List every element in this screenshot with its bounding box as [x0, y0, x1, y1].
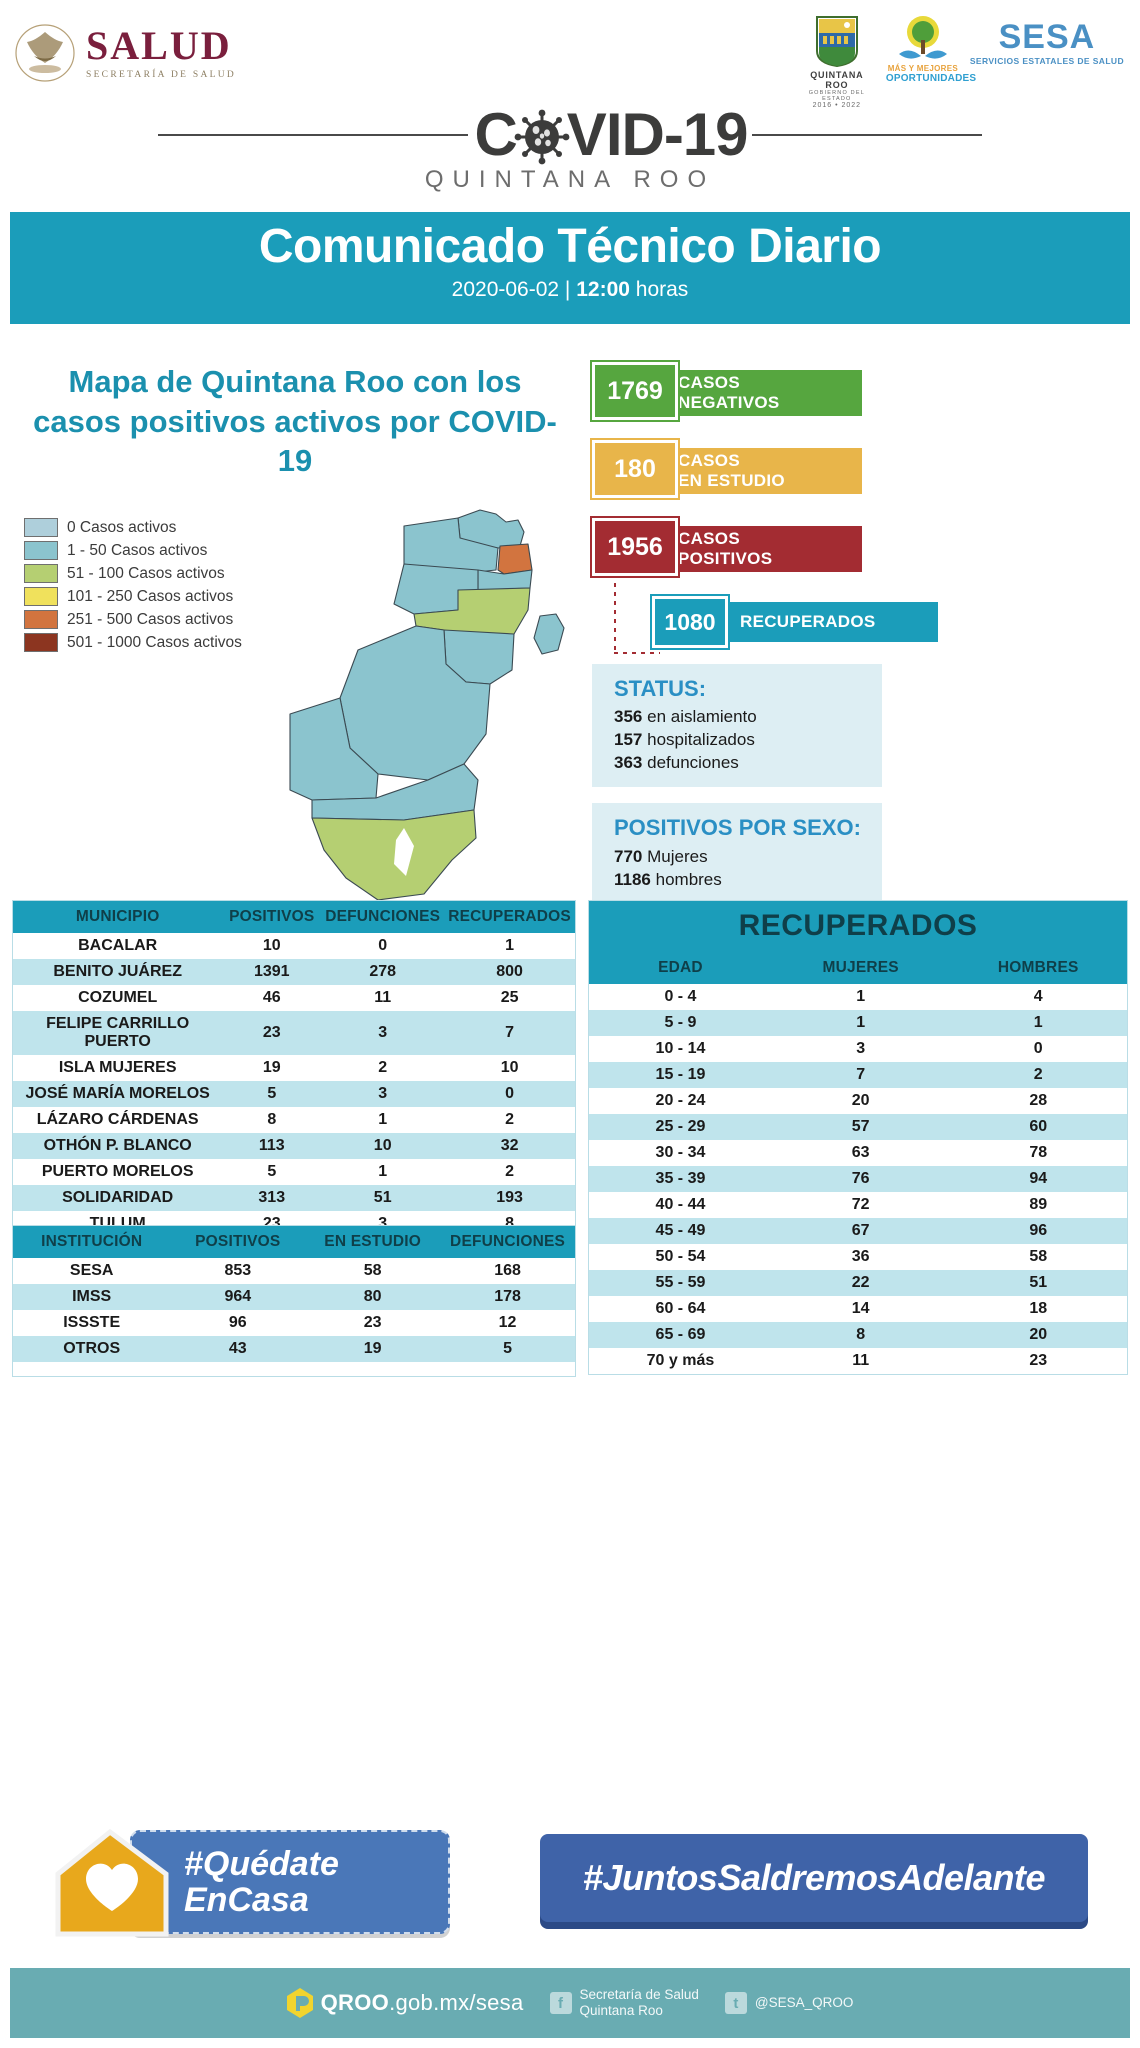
stat-value-positivos: 1956 [592, 518, 678, 576]
cell-edad: 25 - 29 [589, 1114, 772, 1140]
sexo-row: 770 Mujeres [614, 847, 866, 867]
rule-left [158, 134, 468, 136]
map-svg [228, 498, 588, 908]
cell-hombres: 51 [949, 1270, 1127, 1296]
cell-hombres: 89 [949, 1192, 1127, 1218]
cell-municipio: SOLIDARIDAD [13, 1185, 222, 1211]
table-row: LÁZARO CÁRDENAS812 [13, 1107, 575, 1133]
cell-recuperados: 7 [444, 1011, 575, 1055]
cell-positivos: 5 [222, 1159, 321, 1185]
cell-en-estudio: 19 [305, 1336, 440, 1362]
cell-positivos: 853 [170, 1258, 305, 1284]
cell-edad: 45 - 49 [589, 1218, 772, 1244]
table-row: 60 - 641418 [589, 1296, 1127, 1322]
connector-horizontal [614, 652, 660, 654]
legend-swatch [24, 587, 58, 606]
cell-recuperados: 32 [444, 1133, 575, 1159]
cell-municipio: BENITO JUÁREZ [13, 959, 222, 985]
table-row: OTHÓN P. BLANCO1131032 [13, 1133, 575, 1159]
cell-hombres: 28 [949, 1088, 1127, 1114]
cell-hombres: 18 [949, 1296, 1127, 1322]
legend-swatch [24, 564, 58, 583]
cell-municipio: OTHÓN P. BLANCO [13, 1133, 222, 1159]
status-label: en aislamiento [647, 707, 757, 726]
footer-site-path: .gob.mx/sesa [389, 1990, 523, 2015]
stat-line-1: CASOS [678, 529, 862, 549]
banner-time-suffix: horas [630, 278, 688, 301]
legend-label: 0 Casos activos [67, 519, 176, 537]
cell-edad: 55 - 59 [589, 1270, 772, 1296]
stat-value-negativos: 1769 [592, 362, 678, 420]
salud-wordmark: SALUD [86, 26, 236, 66]
footer-bar: QROO.gob.mx/sesa f Secretaría de Salud Q… [10, 1968, 1130, 2038]
cell-hombres: 94 [949, 1166, 1127, 1192]
table-row: SOLIDARIDAD31351193 [13, 1185, 575, 1211]
cell-positivos: 46 [222, 985, 321, 1011]
recuperados-table: EDAD MUJERES HOMBRES 0 - 414 5 - 911 10 … [589, 952, 1127, 1374]
cell-defunciones: 11 [321, 985, 444, 1011]
sexo-label: Mujeres [647, 847, 707, 866]
th-en-estudio: EN ESTUDIO [305, 1226, 440, 1258]
cell-defunciones: 278 [321, 959, 444, 985]
qroo-caption: QUINTANA ROO [798, 70, 876, 90]
status-row: 157 hospitalizados [614, 730, 866, 750]
legend-label: 1 - 50 Casos activos [67, 542, 207, 560]
salud-logo: SALUD SECRETARÍA DE SALUD [14, 22, 236, 84]
sesa-logo: SESA SERVICIOS ESTATALES DE SALUD [970, 14, 1124, 66]
table-row: COZUMEL461125 [13, 985, 575, 1011]
cell-recuperados: 193 [444, 1185, 575, 1211]
cell-mujeres: 1 [772, 1010, 950, 1036]
stat-line-2: NEGATIVOS [678, 393, 862, 413]
cell-hombres: 60 [949, 1114, 1127, 1140]
cell-recuperados: 1 [444, 933, 575, 959]
cell-defunciones: 0 [321, 933, 444, 959]
cell-mujeres: 72 [772, 1192, 950, 1218]
cell-mujeres: 7 [772, 1062, 950, 1088]
sesa-subtitle: SERVICIOS ESTATALES DE SALUD [970, 56, 1124, 66]
table-row: 15 - 1972 [589, 1062, 1127, 1088]
status-value: 356 [614, 707, 642, 726]
mexican-eagle-icon [14, 22, 76, 84]
cell-mujeres: 14 [772, 1296, 950, 1322]
quintana-roo-shield-logo: QUINTANA ROO GOBIERNO DEL ESTADO 2016 • … [798, 14, 876, 109]
map-region-othon-p-blanco [312, 810, 476, 900]
th-mujeres: MUJERES [772, 952, 950, 984]
cell-mujeres: 8 [772, 1322, 950, 1348]
sexo-value: 770 [614, 847, 642, 866]
sexo-label: hombres [656, 870, 722, 889]
cell-edad: 70 y más [589, 1348, 772, 1374]
covid-wordmark: C [0, 100, 1140, 200]
table-row: 20 - 242028 [589, 1088, 1127, 1114]
cell-en-estudio: 23 [305, 1310, 440, 1336]
table-row: 5 - 911 [589, 1010, 1127, 1036]
cell-positivos: 96 [170, 1310, 305, 1336]
cell-mujeres: 20 [772, 1088, 950, 1114]
cell-defunciones: 1 [321, 1107, 444, 1133]
cell-edad: 35 - 39 [589, 1166, 772, 1192]
cell-hombres: 96 [949, 1218, 1127, 1244]
table-row: 35 - 397694 [589, 1166, 1127, 1192]
table-row: 40 - 447289 [589, 1192, 1127, 1218]
footer-fb-line-1: Secretaría de Salud [580, 1987, 699, 2002]
status-value: 157 [614, 730, 642, 749]
legend-label: 101 - 250 Casos activos [67, 588, 233, 606]
footer-twitter[interactable]: t @SESA_QROO [725, 1992, 853, 2014]
table-header-row: MUNICIPIO POSITIVOS DEFUNCIONES RECUPERA… [13, 901, 575, 933]
table-row: ISLA MUJERES19210 [13, 1055, 575, 1081]
cell-institucion: IMSS [13, 1284, 170, 1310]
cell-mujeres: 3 [772, 1036, 950, 1062]
cell-edad: 40 - 44 [589, 1192, 772, 1218]
banner-time: 12:00 [576, 278, 630, 301]
cell-positivos: 8 [222, 1107, 321, 1133]
cell-recuperados: 800 [444, 959, 575, 985]
table-row: SESA85358168 [13, 1258, 575, 1284]
th-recuperados: RECUPERADOS [444, 901, 575, 933]
cell-recuperados: 10 [444, 1055, 575, 1081]
cell-mujeres: 22 [772, 1270, 950, 1296]
legend-swatch [24, 518, 58, 537]
cell-hombres: 4 [949, 984, 1127, 1010]
stat-value-en-estudio: 180 [592, 440, 678, 498]
cell-en-estudio: 58 [305, 1258, 440, 1284]
table-padding [13, 1362, 575, 1376]
recuperados-table-title: RECUPERADOS [589, 901, 1127, 952]
table-row: IMSS96480178 [13, 1284, 575, 1310]
th-municipio: MUNICIPIO [13, 901, 222, 933]
cell-institucion: OTROS [13, 1336, 170, 1362]
title-banner: Comunicado Técnico Diario 2020-06-02 | 1… [10, 212, 1130, 324]
stat-card-casos-en-estudio: CASOS EN ESTUDIO 180 [592, 440, 1132, 498]
cell-edad: 60 - 64 [589, 1296, 772, 1322]
cell-institucion: ISSSTE [13, 1310, 170, 1336]
th-positivos: POSITIVOS [222, 901, 321, 933]
map-region-cozumel [534, 614, 564, 654]
cell-en-estudio: 80 [305, 1284, 440, 1310]
positivos-por-sexo-box: POSITIVOS POR SEXO: 770 Mujeres 1186 hom… [592, 803, 882, 903]
cell-municipio: LÁZARO CÁRDENAS [13, 1107, 222, 1133]
sexo-row: 1186 hombres [614, 870, 866, 890]
stat-card-casos-positivos: CASOS POSITIVOS 1956 [592, 518, 1132, 576]
sexo-value: 1186 [614, 870, 651, 889]
municipio-table: MUNICIPIO POSITIVOS DEFUNCIONES RECUPERA… [13, 901, 575, 1237]
cell-defunciones: 3 [321, 1011, 444, 1055]
covid-letter-c: C [474, 105, 516, 165]
banner-title: Comunicado Técnico Diario [10, 212, 1130, 272]
table-row: 25 - 295760 [589, 1114, 1127, 1140]
cell-hombres: 1 [949, 1010, 1127, 1036]
cell-positivos: 313 [222, 1185, 321, 1211]
table-row: BENITO JUÁREZ1391278800 [13, 959, 575, 985]
cell-municipio: BACALAR [13, 933, 222, 959]
status-label: hospitalizados [647, 730, 755, 749]
footer-facebook-text: Secretaría de Salud Quintana Roo [580, 1987, 699, 2018]
table-row: FELIPE CARRILLO PUERTO2337 [13, 1011, 575, 1055]
footer-site-text: QROO.gob.mx/sesa [321, 1990, 524, 2016]
rule-right [752, 134, 982, 136]
cell-hombres: 58 [949, 1244, 1127, 1270]
table-row: 45 - 496796 [589, 1218, 1127, 1244]
cell-municipio: JOSÉ MARÍA MORELOS [13, 1081, 222, 1107]
table-row: JOSÉ MARÍA MORELOS530 [13, 1081, 575, 1107]
status-label: defunciones [647, 753, 739, 772]
th-defunciones: DEFUNCIONES [440, 1226, 575, 1258]
twitter-icon: t [725, 1992, 747, 2014]
quintana-roo-choropleth-map [228, 498, 588, 908]
banner-separator: | [559, 278, 576, 301]
cell-mujeres: 36 [772, 1244, 950, 1270]
covid-state-label: QUINTANA ROO [0, 166, 1140, 194]
table-header-row: INSTITUCIÓN POSITIVOS EN ESTUDIO DEFUNCI… [13, 1226, 575, 1258]
cell-positivos: 43 [170, 1336, 305, 1362]
cell-edad: 20 - 24 [589, 1088, 772, 1114]
shield-icon [814, 14, 860, 68]
footer-facebook[interactable]: f Secretaría de Salud Quintana Roo [550, 1987, 699, 2018]
table-row: 30 - 346378 [589, 1140, 1127, 1166]
institucion-table-wrapper: INSTITUCIÓN POSITIVOS EN ESTUDIO DEFUNCI… [12, 1225, 576, 1377]
infographic-page: SALUD SECRETARÍA DE SALUD [0, 0, 1140, 2048]
sexo-title: POSITIVOS POR SEXO: [614, 815, 866, 840]
cell-defunciones: 5 [440, 1336, 575, 1362]
th-edad: EDAD [589, 952, 772, 984]
cell-defunciones: 2 [321, 1055, 444, 1081]
stat-value-recuperados: 1080 [652, 596, 728, 648]
table-row: PUERTO MORELOS512 [13, 1159, 575, 1185]
table-row: 50 - 543658 [589, 1244, 1127, 1270]
salud-subtitle: SECRETARÍA DE SALUD [86, 71, 236, 81]
juntos-saldremos-adelante-badge: #JuntosSaldremosAdelante [540, 1834, 1088, 1922]
municipio-table-wrapper: MUNICIPIO POSITIVOS DEFUNCIONES RECUPERA… [12, 900, 576, 1252]
cell-recuperados: 0 [444, 1081, 575, 1107]
cell-hombres: 20 [949, 1322, 1127, 1348]
table-row: 0 - 414 [589, 984, 1127, 1010]
table-row: OTROS43195 [13, 1336, 575, 1362]
cell-mujeres: 57 [772, 1114, 950, 1140]
status-box: STATUS: 356 en aislamiento 157 hospitali… [592, 664, 882, 787]
cell-edad: 5 - 9 [589, 1010, 772, 1036]
virus-icon [514, 109, 570, 165]
logo-bar: SALUD SECRETARÍA DE SALUD [0, 0, 1140, 110]
cell-edad: 30 - 34 [589, 1140, 772, 1166]
cell-recuperados: 2 [444, 1107, 575, 1133]
quedate-line-2: EnCasa [184, 1882, 448, 1918]
stat-card-recuperados: RECUPERADOS 1080 [652, 596, 1132, 648]
status-row: 363 defunciones [614, 753, 866, 773]
cell-mujeres: 11 [772, 1348, 950, 1374]
cell-edad: 65 - 69 [589, 1322, 772, 1348]
table-row: BACALAR1001 [13, 933, 575, 959]
sesa-wordmark: SESA [970, 20, 1124, 54]
cell-recuperados: 25 [444, 985, 575, 1011]
institucion-table: INSTITUCIÓN POSITIVOS EN ESTUDIO DEFUNCI… [13, 1226, 575, 1362]
legend-swatch [24, 541, 58, 560]
th-institucion: INSTITUCIÓN [13, 1226, 170, 1258]
cell-mujeres: 76 [772, 1166, 950, 1192]
quedate-line-1: #Quédate [184, 1846, 448, 1882]
cell-defunciones: 12 [440, 1310, 575, 1336]
mmo-line-2: OPORTUNIDADES [886, 73, 960, 84]
table-row: 10 - 1430 [589, 1036, 1127, 1062]
legend-swatch [24, 610, 58, 629]
quedate-en-casa-badge: #Quédate EnCasa [48, 1818, 448, 1940]
cell-defunciones: 178 [440, 1284, 575, 1310]
facebook-icon: f [550, 1992, 572, 2014]
stat-line-2: POSITIVOS [678, 549, 862, 569]
cell-municipio: ISLA MUJERES [13, 1055, 222, 1081]
cell-hombres: 78 [949, 1140, 1127, 1166]
cell-mujeres: 63 [772, 1140, 950, 1166]
cell-recuperados: 2 [444, 1159, 575, 1185]
stat-label-recuperados: RECUPERADOS [698, 602, 938, 642]
status-value: 363 [614, 753, 642, 772]
quedate-tag: #Quédate EnCasa [130, 1830, 450, 1934]
banner-datetime: 2020-06-02 | 12:00 horas [10, 278, 1130, 302]
cell-edad: 50 - 54 [589, 1244, 772, 1270]
stat-card-casos-negativos: CASOS NEGATIVOS 1769 [592, 362, 1132, 420]
cell-positivos: 5 [222, 1081, 321, 1107]
cell-defunciones: 10 [321, 1133, 444, 1159]
tree-icon [895, 14, 951, 64]
cell-municipio: COZUMEL [13, 985, 222, 1011]
cell-hombres: 2 [949, 1062, 1127, 1088]
th-positivos: POSITIVOS [170, 1226, 305, 1258]
status-row: 356 en aislamiento [614, 707, 866, 727]
stat-line-2: EN ESTUDIO [678, 471, 862, 491]
cell-positivos: 1391 [222, 959, 321, 985]
cell-edad: 10 - 14 [589, 1036, 772, 1062]
cell-municipio: FELIPE CARRILLO PUERTO [13, 1011, 222, 1055]
legend-swatch [24, 633, 58, 652]
cell-municipio: PUERTO MORELOS [13, 1159, 222, 1185]
table-row: 55 - 592251 [589, 1270, 1127, 1296]
th-defunciones: DEFUNCIONES [321, 901, 444, 933]
cell-defunciones: 51 [321, 1185, 444, 1211]
cell-positivos: 964 [170, 1284, 305, 1310]
cell-positivos: 10 [222, 933, 321, 959]
cell-mujeres: 67 [772, 1218, 950, 1244]
hashtag-banners: #Quédate EnCasa #JuntosSaldremosAdelante [0, 1812, 1140, 1947]
summary-stats: CASOS NEGATIVOS 1769 CASOS EN ESTUDIO 18… [592, 362, 1132, 920]
map-region-benito-juarez [498, 544, 532, 574]
table-row: ISSSTE962312 [13, 1310, 575, 1336]
cell-edad: 15 - 19 [589, 1062, 772, 1088]
legend-label: 501 - 1000 Casos activos [67, 634, 242, 652]
table-header-row: EDAD MUJERES HOMBRES [589, 952, 1127, 984]
cell-positivos: 19 [222, 1055, 321, 1081]
cell-defunciones: 3 [321, 1081, 444, 1107]
page-title: Mapa de Quintana Roo con los casos posit… [24, 362, 566, 481]
footer-site-brand: QROO [321, 1990, 389, 2015]
cell-defunciones: 168 [440, 1258, 575, 1284]
recuperados-table-wrapper: RECUPERADOS EDAD MUJERES HOMBRES 0 - 414… [588, 900, 1128, 1375]
footer-fb-line-2: Quintana Roo [580, 2003, 663, 2018]
legend-label: 51 - 100 Casos activos [67, 565, 225, 583]
stat-line-1: CASOS [678, 451, 862, 471]
cell-positivos: 23 [222, 1011, 321, 1055]
house-heart-icon [48, 1826, 178, 1938]
banner-date: 2020-06-02 [452, 278, 559, 301]
table-row: 70 y más1123 [589, 1348, 1127, 1374]
th-hombres: HOMBRES [949, 952, 1127, 984]
cell-edad: 0 - 4 [589, 984, 772, 1010]
cell-mujeres: 1 [772, 984, 950, 1010]
cell-hombres: 23 [949, 1348, 1127, 1374]
legend-label: 251 - 500 Casos activos [67, 611, 233, 629]
footer-website[interactable]: QROO.gob.mx/sesa [287, 1988, 524, 2018]
covid-text: VID-19 [567, 105, 748, 165]
stat-line-1: CASOS [678, 373, 862, 393]
table-row: 65 - 69820 [589, 1322, 1127, 1348]
cell-defunciones: 1 [321, 1159, 444, 1185]
state-logos: QUINTANA ROO GOBIERNO DEL ESTADO 2016 • … [798, 14, 1124, 109]
mmo-line-1: MÁS Y MEJORES [886, 64, 960, 73]
cell-positivos: 113 [222, 1133, 321, 1159]
footer-twitter-handle: @SESA_QROO [755, 1995, 853, 2011]
mas-y-mejores-logo: MÁS Y MEJORES OPORTUNIDADES [886, 14, 960, 84]
qroo-glyph-icon [287, 1988, 313, 2018]
cell-institucion: SESA [13, 1258, 170, 1284]
status-title: STATUS: [614, 676, 866, 701]
cell-hombres: 0 [949, 1036, 1127, 1062]
